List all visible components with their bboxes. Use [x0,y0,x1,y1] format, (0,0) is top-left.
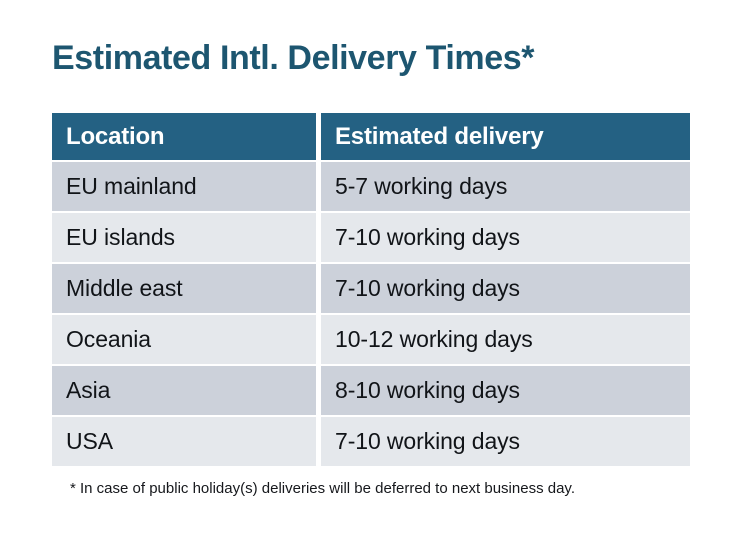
table-row: Asia 8-10 working days [52,366,690,415]
cell-location: EU mainland [52,162,316,211]
table-row: Oceania 10-12 working days [52,315,690,364]
cell-location: Oceania [52,315,316,364]
table-header-row: Location Estimated delivery [52,113,690,160]
table-row: EU islands 7-10 working days [52,213,690,262]
delivery-times-page: Estimated Intl. Delivery Times* Location… [0,0,745,536]
cell-estimated-delivery: 7-10 working days [321,264,690,313]
cell-estimated-delivery: 7-10 working days [321,417,690,466]
cell-location: Asia [52,366,316,415]
table-row: EU mainland 5-7 working days [52,162,690,211]
cell-location: Middle east [52,264,316,313]
cell-estimated-delivery: 5-7 working days [321,162,690,211]
table-row: USA 7-10 working days [52,417,690,466]
cell-estimated-delivery: 7-10 working days [321,213,690,262]
cell-estimated-delivery: 8-10 working days [321,366,690,415]
cell-location: USA [52,417,316,466]
delivery-times-table: Location Estimated delivery EU mainland … [52,113,690,466]
cell-location: EU islands [52,213,316,262]
column-header-location: Location [52,113,316,160]
table-row: Middle east 7-10 working days [52,264,690,313]
footnote-text: * In case of public holiday(s) deliverie… [70,478,575,500]
cell-estimated-delivery: 10-12 working days [321,315,690,364]
page-title: Estimated Intl. Delivery Times* [52,36,534,80]
column-header-estimated-delivery: Estimated delivery [321,113,690,160]
